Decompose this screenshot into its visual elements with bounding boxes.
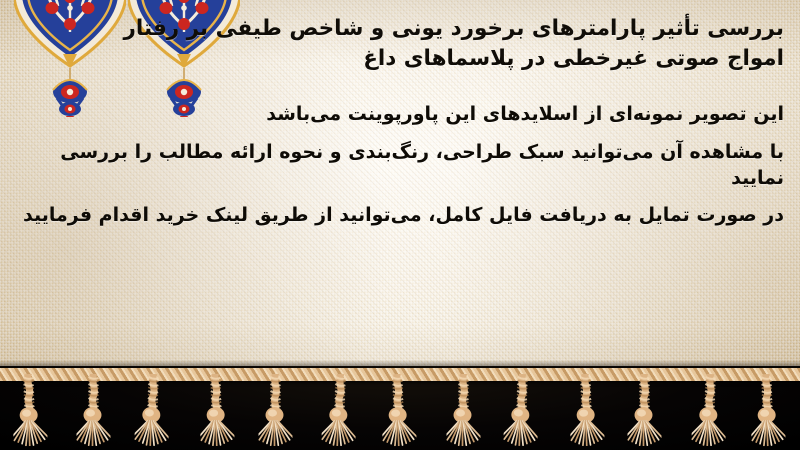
tassel: [322, 373, 358, 446]
tassel: [691, 373, 727, 446]
slide-title-line-1: بررسی تأثیر پارامترهای برخورد یونی و شاخ…: [16, 14, 784, 44]
tassel: [77, 374, 111, 446]
tassel-fringe-group: [0, 374, 800, 450]
body-line-1: این تصویر نمونه‌ای از اسلایدهای این پاور…: [16, 101, 784, 127]
body-line-2: با مشاهده آن می‌توانید سبک طراحی، رنگ‌بن…: [16, 139, 784, 191]
carpet-bottom-band: [0, 366, 800, 450]
slide-title-line-2: امواج صوتی غیرخطی در پلاسماهای داغ: [16, 44, 784, 74]
tassel: [258, 374, 292, 446]
tassel: [568, 373, 604, 446]
tassel: [503, 373, 539, 446]
body-line-3: در صورت تمایل به دریافت فایل کامل، می‌تو…: [16, 202, 784, 228]
presentation-slide: بررسی تأثیر پارامترهای برخورد یونی و شاخ…: [0, 0, 800, 450]
tassel: [134, 373, 170, 446]
tassel: [749, 373, 785, 446]
tassel: [199, 373, 235, 446]
slide-content: بررسی تأثیر پارامترهای برخورد یونی و شاخ…: [0, 0, 800, 228]
tassel: [446, 374, 480, 446]
tassel: [11, 373, 47, 446]
slide-title: بررسی تأثیر پارامترهای برخورد یونی و شاخ…: [16, 14, 784, 73]
tassel: [380, 373, 416, 446]
slide-body: این تصویر نمونه‌ای از اسلایدهای این پاور…: [16, 101, 784, 228]
tassel: [628, 374, 662, 446]
